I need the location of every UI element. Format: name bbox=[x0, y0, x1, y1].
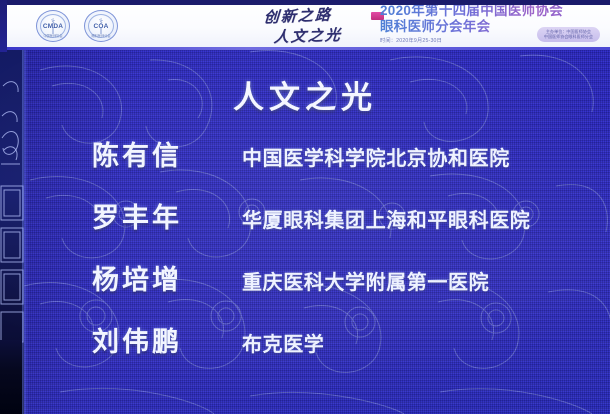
list-item: 杨培增 重庆医科大学附属第一医院 bbox=[92, 258, 592, 320]
conference-title-line-1: 2020年第十四届中国医师协会 bbox=[380, 3, 602, 19]
coa-logo: ⚕ COA 眼科医师分会 bbox=[84, 10, 118, 42]
organizer-badge-line-2: 中国医师协会眼科医师分会 bbox=[544, 34, 593, 39]
speaker-organization: 中国医学科学院北京协和医院 bbox=[242, 142, 510, 171]
conference-title-block: 2020年第十四届中国医师协会 眼科医师分会年会 时间：2020年9月25-30… bbox=[380, 3, 602, 44]
cmda-logo-sub: 中国医师协会 bbox=[37, 33, 69, 38]
conference-header-banner: ⚕ CMDA 中国医师协会 ⚕ COA 眼科医师分会 创新之路 人文之光 202… bbox=[6, 0, 610, 50]
bottom-left-shadow bbox=[0, 340, 22, 414]
speaker-organization: 重庆医科大学附属第一医院 bbox=[242, 266, 489, 295]
organizer-badge: 主办单位：中国医师协会 中国医师协会眼科医师分会 bbox=[537, 27, 600, 42]
slide-title: 人文之光 bbox=[0, 72, 610, 117]
slide-screenshot: ⚕ CMDA 中国医师协会 ⚕ COA 眼科医师分会 创新之路 人文之光 202… bbox=[0, 0, 610, 414]
speaker-organization: 布克医学 bbox=[242, 328, 324, 357]
speaker-name: 陈有信 bbox=[92, 134, 242, 173]
header-left-edge bbox=[0, 0, 7, 52]
list-item: 刘伟鹏 布克医学 bbox=[92, 320, 592, 382]
speaker-name: 罗丰年 bbox=[92, 196, 242, 235]
calligraphy-slogan: 创新之路 人文之光 bbox=[262, 4, 378, 48]
list-item: 罗丰年 华厦眼科集团上海和平眼科医院 bbox=[92, 196, 592, 258]
speaker-list: 陈有信 中国医学科学院北京协和医院 罗丰年 华厦眼科集团上海和平眼科医院 杨培增… bbox=[92, 134, 592, 382]
speaker-name: 刘伟鹏 bbox=[92, 320, 242, 359]
coa-logo-sub: 眼科医师分会 bbox=[85, 33, 117, 38]
cmda-logo: ⚕ CMDA 中国医师协会 bbox=[36, 10, 70, 42]
logo-group: ⚕ CMDA 中国医师协会 ⚕ COA 眼科医师分会 bbox=[36, 10, 118, 42]
calligraphy-line-2: 人文之光 bbox=[273, 24, 343, 47]
speaker-organization: 华厦眼科集团上海和平眼科医院 bbox=[242, 204, 530, 233]
header-top-edge bbox=[6, 0, 610, 5]
list-item: 陈有信 中国医学科学院北京协和医院 bbox=[92, 134, 592, 196]
speaker-name: 杨培增 bbox=[92, 258, 242, 297]
